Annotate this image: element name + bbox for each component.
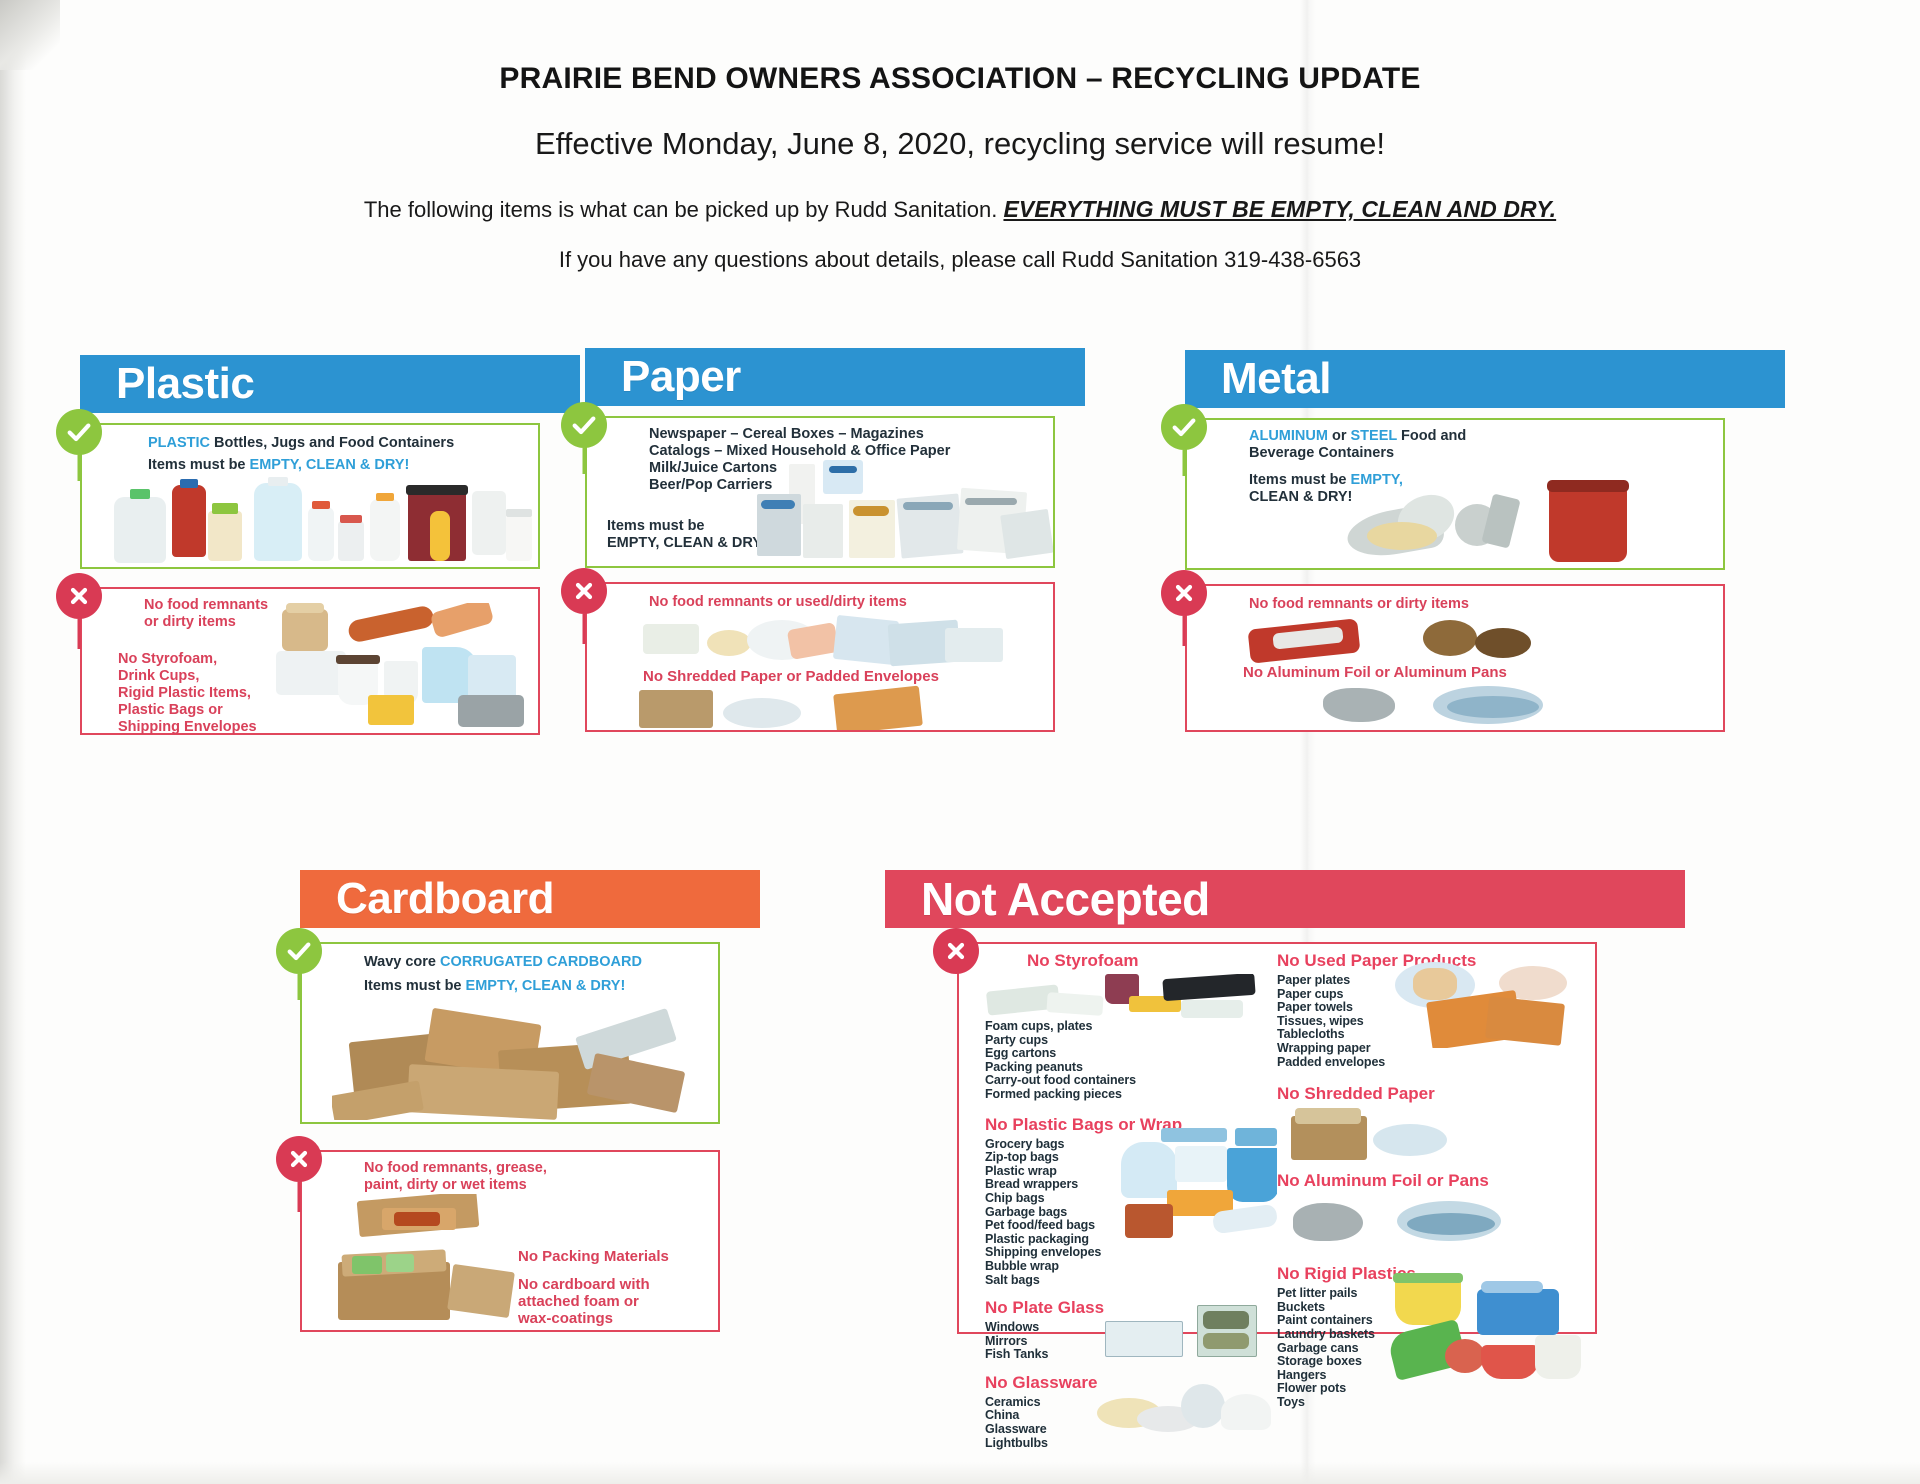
paper-rejected-photo-bottom (639, 684, 1039, 730)
check-icon (561, 402, 607, 448)
x-icon (933, 928, 979, 974)
cardboard-accepted-box: Wavy core CORRUGATED CARDBOARD Items mus… (300, 942, 720, 1124)
metal-rejected-headline: No food remnants or dirty items (1249, 596, 1649, 613)
category-cardboard: Cardboard Wavy core CORRUGATED CARDBOARD… (300, 870, 760, 1332)
cardboard-rejected-headline: No food remnants, grease, paint, dirty o… (364, 1160, 624, 1194)
group-items: Foam cups, plates Party cups Egg cartons… (985, 1020, 1275, 1102)
category-metal: Metal ALUMINUM or STEEL Food and Beverag… (1185, 350, 1785, 732)
not-accepted-panel: No Styrofoam Foam cups, plates Party cup… (957, 942, 1597, 1334)
plastic-accepted-box: PLASTIC Bottles, Jugs and Food Container… (80, 423, 540, 569)
plastic-rejected-box: No food remnants or dirty items No Styro… (80, 587, 540, 735)
group-no-glassware: No Glassware Ceramics China Glassware Li… (985, 1372, 1275, 1450)
cardboard-accepted-line2: Items must be EMPTY, CLEAN & DRY! (364, 978, 714, 995)
x-icon (1161, 570, 1207, 616)
cardboard-rejected-photo-pizza (328, 1194, 528, 1244)
x-icon (276, 1136, 322, 1182)
scan-bottom-shadow (0, 1462, 1920, 1484)
effective-date-line: Effective Monday, June 8, 2020, recyclin… (0, 126, 1920, 162)
category-plastic: Plastic PLASTIC Bottles, Jugs and Food C… (80, 355, 580, 735)
paper-accepted-box: Newspaper – Cereal Boxes – Magazines Cat… (585, 416, 1055, 568)
check-icon (1161, 404, 1207, 450)
plastic-banner: Plastic (80, 355, 580, 413)
rigid-plastics-photo (1385, 1273, 1585, 1389)
scanned-page: PRAIRIE BEND OWNERS ASSOCIATION – RECYCL… (0, 0, 1920, 1484)
category-paper: Paper Newspaper – Cereal Boxes – Magazin… (585, 348, 1085, 732)
group-no-rigid-plastics: No Rigid Plastics Pet litter pails Bucke… (1277, 1263, 1577, 1409)
group-no-shredded-paper: No Shredded Paper (1277, 1083, 1577, 1164)
scan-corner-shadow (0, 0, 60, 70)
metal-rejected-photo-bottom (1243, 682, 1703, 728)
metal-accepted-line1: ALUMINUM or STEEL Food and (1249, 428, 1649, 445)
not-accepted-banner: Not Accepted (885, 870, 1685, 928)
cardboard-accepted-photo (332, 1002, 712, 1120)
cardboard-rejected-photo-box (316, 1244, 526, 1326)
paper-banner: Paper (585, 348, 1085, 406)
check-icon (276, 928, 322, 974)
plate-glass-photo (1105, 1305, 1275, 1365)
plastic-rejected-list: No Styrofoam, Drink Cups, Rigid Plastic … (118, 651, 298, 736)
metal-rejected-photo-top (1243, 616, 1703, 664)
metal-banner: Metal (1185, 350, 1785, 408)
group-no-plate-glass: No Plate Glass Windows Mirrors Fish Tank… (985, 1297, 1275, 1362)
cardboard-rejected-box: No food remnants, grease, paint, dirty o… (300, 1150, 720, 1332)
metal-accepted-box: ALUMINUM or STEEL Food and Beverage Cont… (1185, 418, 1725, 570)
cardboard-rejected-note1: No Packing Materials (518, 1248, 718, 1265)
plastic-accepted-line1: PLASTIC Bottles, Jugs and Food Container… (148, 435, 528, 452)
cardboard-banner: Cardboard (300, 870, 760, 928)
x-icon (561, 568, 607, 614)
paper-rejected-headline: No food remnants or used/dirty items (649, 594, 1029, 611)
group-heading: No Aluminum Foil or Pans (1277, 1170, 1577, 1191)
empty-clean-dry-emphasis: EVERYTHING MUST BE EMPTY, CLEAN AND DRY. (1003, 196, 1556, 222)
paper-rejected-box: No food remnants or used/dirty items No … (585, 582, 1055, 732)
group-no-styrofoam: No Styrofoam Foam cups, plates Party cup… (985, 950, 1275, 1102)
cardboard-accepted-line1: Wavy core CORRUGATED CARDBOARD (364, 954, 714, 971)
group-no-used-paper: No Used Paper Products Paper plates Pape… (1277, 950, 1577, 1069)
group-no-plastic-bags: No Plastic Bags or Wrap Grocery bags Zip… (985, 1114, 1275, 1288)
x-icon (56, 573, 102, 619)
plastic-bags-photo (1117, 1128, 1277, 1244)
contact-line: If you have any questions about details,… (0, 247, 1920, 273)
group-heading: No Styrofoam (1027, 950, 1275, 971)
not-accepted-left-column: No Styrofoam Foam cups, plates Party cup… (985, 950, 1275, 1450)
category-not-accepted: Not Accepted No Styrofoam F (885, 870, 1685, 928)
shredded-paper-photo (1277, 1108, 1557, 1164)
used-paper-photo (1395, 962, 1575, 1048)
pickup-instruction-line: The following items is what can be picke… (0, 196, 1920, 223)
plastic-accepted-line2: Items must be EMPTY, CLEAN & DRY! (148, 457, 528, 474)
metal-rejected-note: No Aluminum Foil or Aluminum Pans (1243, 664, 1683, 681)
styrofoam-photo (985, 974, 1271, 1020)
not-accepted-right-column: No Used Paper Products Paper plates Pape… (1277, 950, 1577, 1410)
check-icon (56, 409, 102, 455)
plastic-accepted-photo (108, 477, 532, 567)
paper-accepted-photo (753, 460, 1053, 566)
cardboard-rejected-note2: No cardboard with attached foam or wax-c… (518, 1276, 718, 1327)
metal-accepted-line2: Beverage Containers (1249, 445, 1649, 462)
page-title: PRAIRIE BEND OWNERS ASSOCIATION – RECYCL… (0, 62, 1920, 96)
pickup-instruction-text: The following items is what can be picke… (364, 197, 1004, 222)
paper-rejected-photo-top (639, 614, 1039, 668)
group-heading: No Shredded Paper (1277, 1083, 1577, 1104)
paper-rejected-note: No Shredded Paper or Padded Envelopes (643, 668, 1043, 685)
group-no-aluminum-foil: No Aluminum Foil or Pans (1277, 1170, 1577, 1257)
document-header: PRAIRIE BEND OWNERS ASSOCIATION – RECYCL… (0, 62, 1920, 273)
metal-accepted-photo (1337, 478, 1717, 568)
plastic-rejected-photo (272, 603, 538, 731)
glassware-photo (1097, 1376, 1277, 1438)
metal-rejected-box: No food remnants or dirty items No Alumi… (1185, 584, 1725, 732)
aluminum-foil-photo (1277, 1195, 1557, 1257)
